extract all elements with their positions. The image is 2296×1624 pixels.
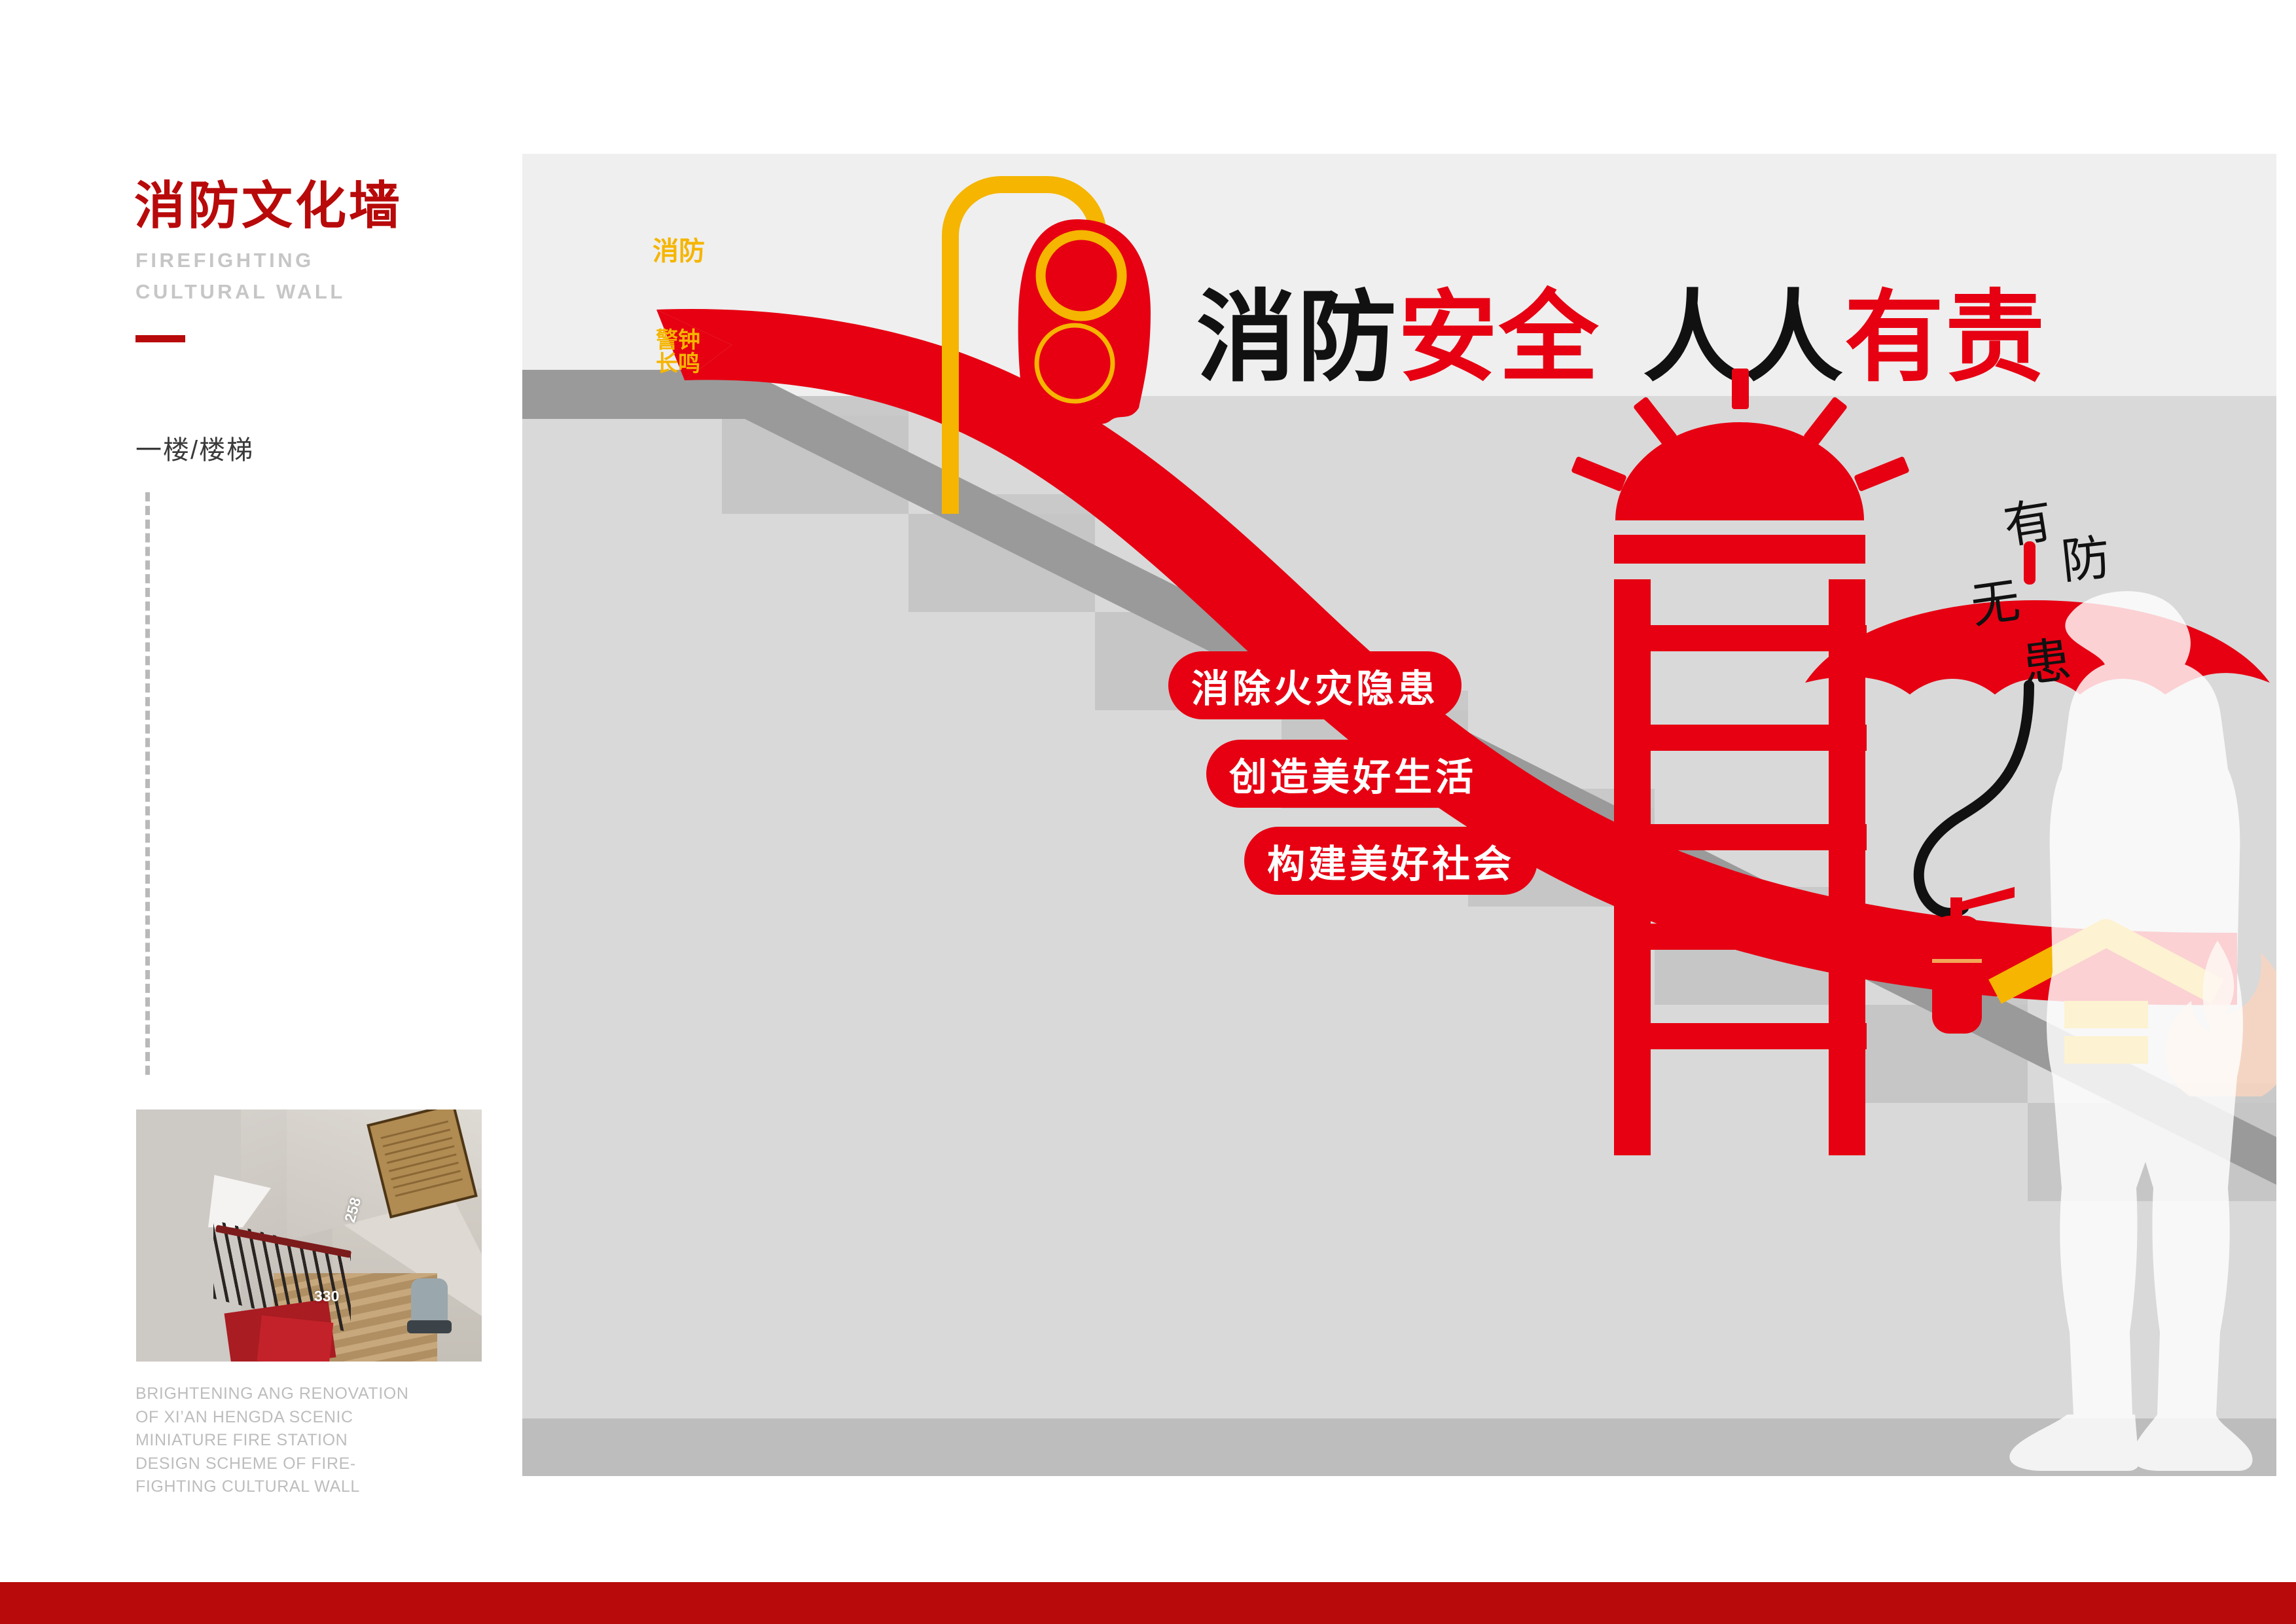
slogan-pill-2[interactable]: 创造美好生活 [1206, 740, 1499, 808]
headline-part-1: 消防 [1196, 282, 1398, 393]
calligraphy-char-1: 有 [1998, 481, 2057, 558]
accent-bar [135, 335, 185, 342]
bell-badge-top-label: 消防 [644, 238, 713, 265]
bell-lamp-post [923, 154, 1158, 514]
page-title-en-line1: FIREFIGHTING [135, 249, 314, 272]
photo-water-jug-base [407, 1320, 452, 1333]
bell-badge-bottom-label: 警钟 长鸣 [636, 329, 720, 376]
page-title-cn: 消防文化墙 [134, 180, 403, 231]
reference-photo-thumbnail: 258 330 [136, 1110, 482, 1362]
photo-dimension-330: 330 [314, 1288, 339, 1305]
floor-label: 一楼/楼梯 [135, 429, 254, 467]
photo-red-object-2 [257, 1315, 334, 1362]
footer-bar [0, 1582, 2296, 1624]
human-scale-silhouette [1988, 573, 2263, 1476]
divider-dashed [145, 492, 150, 1075]
sidebar: 消防文化墙 FIREFIGHTING CULTURAL WALL 一楼/楼梯 2… [0, 0, 522, 1624]
slogan-pill-1[interactable]: 消除火灾隐患 [1168, 651, 1462, 719]
wall-design-canvas: 消防 警钟 长鸣 消防安全人人有责 消除火灾隐患 创造美好生活 构建美好社会 [522, 154, 2276, 1476]
slogan-pill-3[interactable]: 构建美好社会 [1244, 827, 1537, 895]
project-caption: BRIGHTENING ANG RENOVATION OF XI’AN HENG… [135, 1382, 410, 1499]
page-title-en-line2: CULTURAL WALL [135, 280, 346, 304]
